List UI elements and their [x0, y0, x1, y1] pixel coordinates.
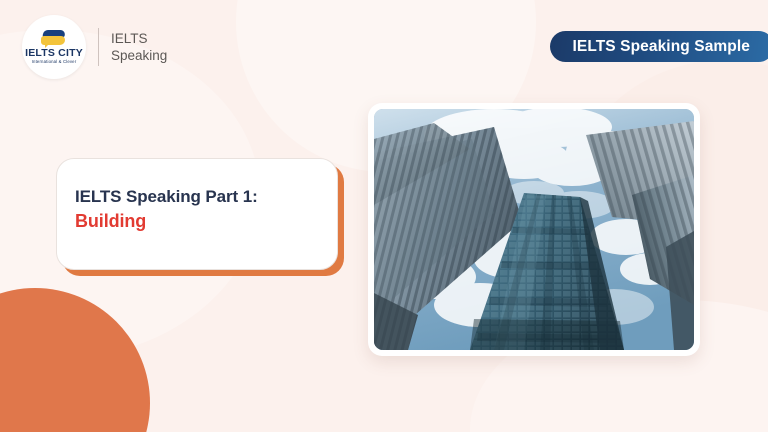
page-title-topic: Building [75, 209, 317, 234]
page-title-primary: IELTS Speaking Part 1: [75, 185, 317, 209]
slide-canvas: IELTS CITY International & Clever IELTS … [0, 0, 768, 432]
skyscraper-illustration [374, 109, 694, 350]
sample-badge: IELTS Speaking Sample [550, 31, 768, 62]
sample-badge-label: IELTS Speaking Sample [572, 38, 750, 56]
logo[interactable]: IELTS CITY International & Clever [22, 15, 86, 79]
header: IELTS CITY International & Clever IELTS … [22, 15, 167, 79]
speech-bubble-icon [41, 30, 67, 47]
title-card-container: IELTS Speaking Part 1: Building [56, 158, 338, 270]
logo-brand-name: IELTS CITY [25, 48, 83, 59]
logo-tagline: International & Clever [32, 60, 77, 64]
header-title-line-2: Speaking [111, 47, 167, 64]
photo-card [368, 103, 700, 356]
header-divider [98, 28, 99, 66]
header-title: IELTS Speaking [111, 30, 167, 64]
header-title-line-1: IELTS [111, 30, 167, 47]
title-card: IELTS Speaking Part 1: Building [56, 158, 338, 270]
skyscraper-photo [374, 109, 694, 350]
